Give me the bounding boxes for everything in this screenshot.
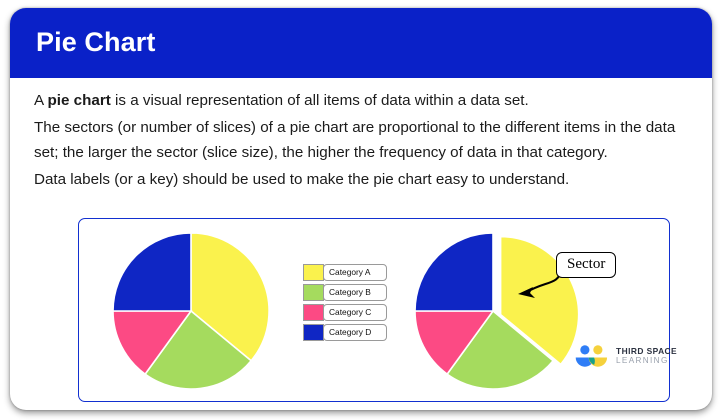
legend-swatch-category-c (303, 304, 324, 321)
paragraph-1-rest: is a visual representation of all items … (111, 92, 529, 109)
screenshot-root: Pie Chart A pie chart is a visual repres… (0, 0, 724, 420)
pie-slice-category-d (113, 233, 191, 311)
legend-label-category-d: Category D (323, 324, 387, 341)
legend-item-category-a: Category A (303, 264, 387, 281)
paragraph-1-lead: A (34, 92, 48, 109)
sector-callout: Sector (556, 252, 616, 278)
two-people-icon (573, 343, 609, 369)
logo-text: THIRD SPACE LEARNING (616, 347, 677, 366)
illustration-panel: Category A Category B Category C Categor… (78, 218, 670, 402)
legend-label-category-b: Category B (323, 284, 387, 301)
legend-swatch-category-b (303, 284, 324, 301)
paragraph-2: The sectors (or number of slices) of a p… (34, 115, 694, 166)
legend: Category A Category B Category C Categor… (303, 264, 387, 344)
page-title: Pie Chart (36, 25, 155, 59)
legend-item-category-d: Category D (303, 324, 387, 341)
pie-chart-right (397, 218, 597, 404)
card-header: Pie Chart (10, 8, 712, 78)
legend-item-category-b: Category B (303, 284, 387, 301)
pie-slice-category-d (415, 233, 493, 311)
body-copy: A pie chart is a visual representation o… (34, 88, 694, 193)
legend-swatch-category-d (303, 324, 324, 341)
lesson-card: Pie Chart A pie chart is a visual repres… (10, 8, 712, 410)
logo-line-2: LEARNING (616, 357, 677, 365)
paragraph-3: Data labels (or a key) should be used to… (34, 167, 694, 193)
legend-label-category-c: Category C (323, 304, 387, 321)
paragraph-1: A pie chart is a visual representation o… (34, 88, 694, 114)
panel-inner: Category A Category B Category C Categor… (79, 219, 669, 401)
brand-logo: THIRD SPACE LEARNING (573, 343, 677, 369)
legend-label-category-a: Category A (323, 264, 387, 281)
legend-swatch-category-a (303, 264, 324, 281)
paragraph-1-bold: pie chart (48, 92, 111, 109)
logo-line-1: THIRD SPACE (616, 347, 677, 355)
legend-item-category-c: Category C (303, 304, 387, 321)
pie-chart-left (93, 218, 289, 404)
